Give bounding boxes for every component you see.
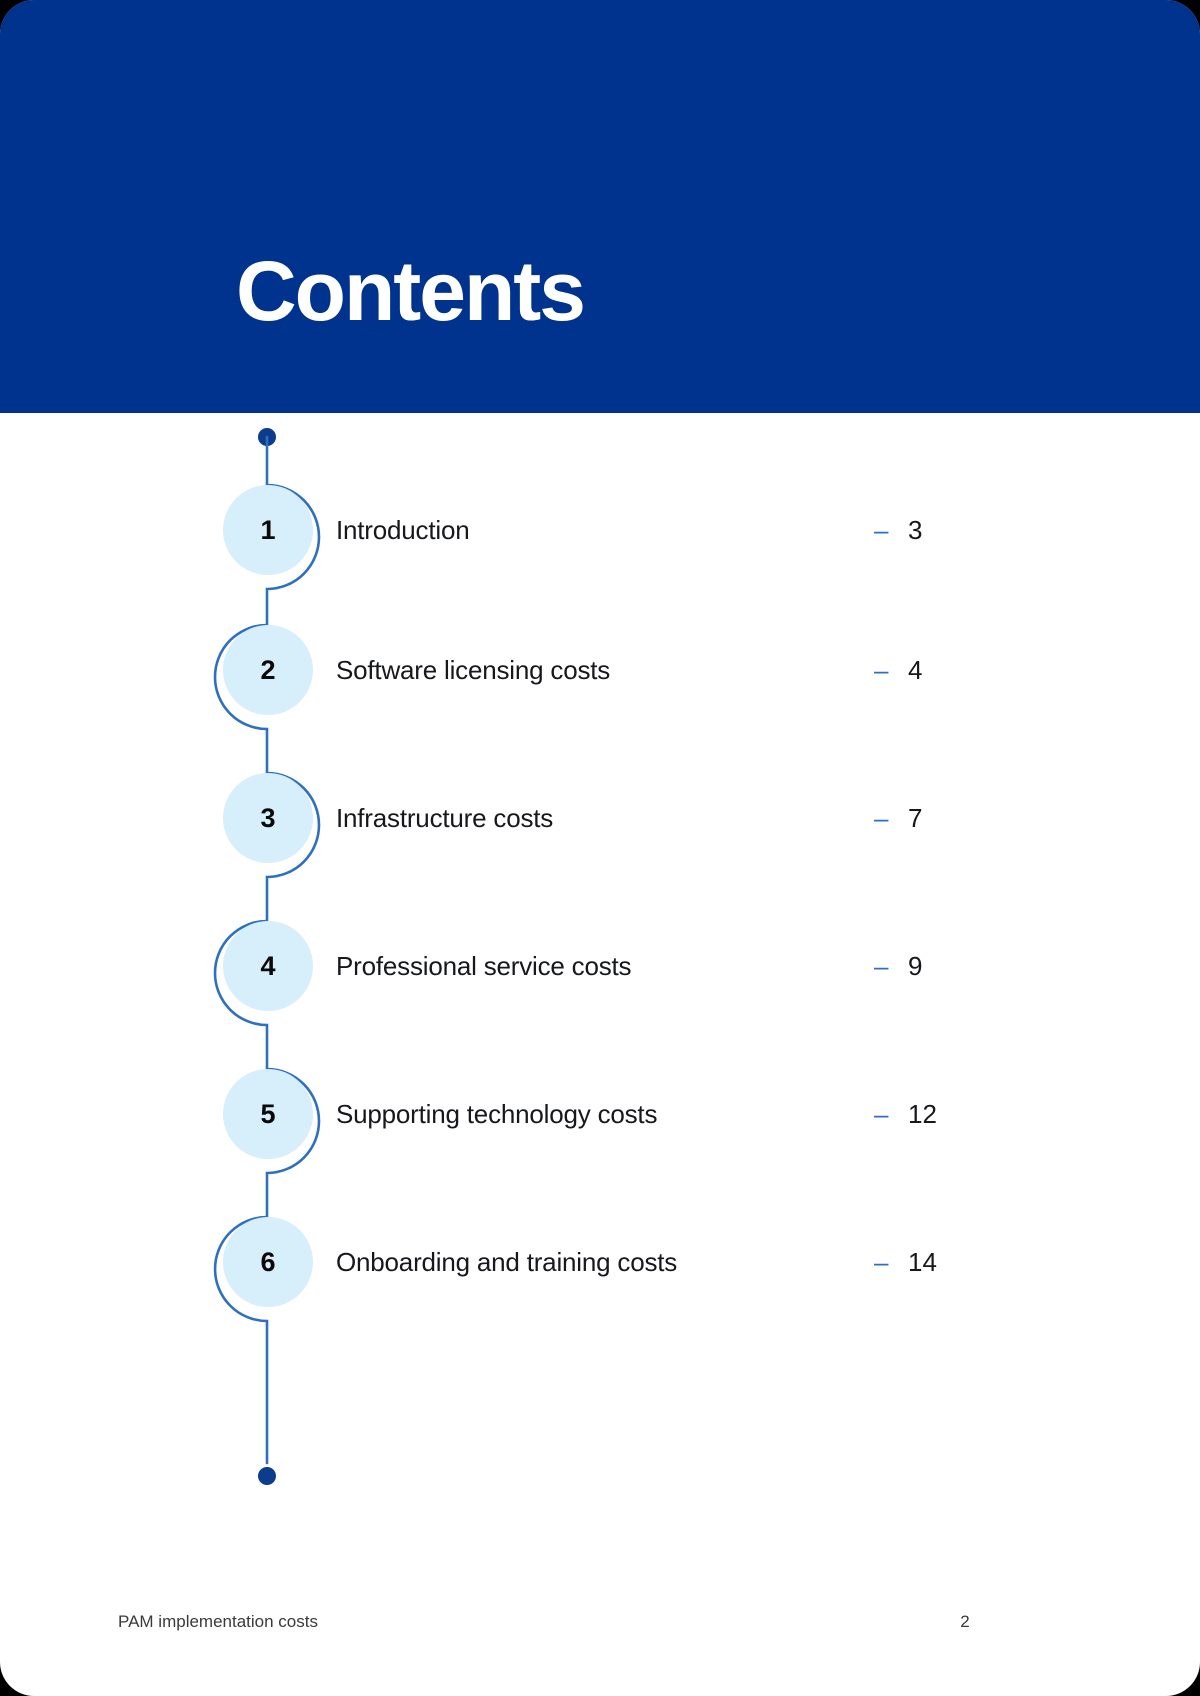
toc-item-number-badge: 5	[223, 1069, 313, 1159]
footer-page-number: 2	[950, 1612, 980, 1632]
document-page: Contents 1 Introduction – 3 2 Software l…	[0, 0, 1200, 1696]
toc-item-page-number[interactable]: 4	[908, 625, 968, 715]
toc-item-dash: –	[874, 921, 888, 1011]
toc-item-number-badge: 3	[223, 773, 313, 863]
toc-item-number-badge: 6	[223, 1217, 313, 1307]
toc-item-dash: –	[874, 1217, 888, 1307]
toc-item-label[interactable]: Introduction	[336, 485, 469, 575]
page-header-band: Contents	[0, 0, 1200, 413]
toc-item-page-number[interactable]: 9	[908, 921, 968, 1011]
toc-item-page-number[interactable]: 3	[908, 485, 968, 575]
page-title: Contents	[236, 243, 584, 339]
toc-item-label[interactable]: Onboarding and training costs	[336, 1217, 677, 1307]
toc-row[interactable]: 4 Professional service costs – 9	[0, 921, 1200, 1013]
toc-item-page-number[interactable]: 12	[908, 1069, 968, 1159]
toc-row[interactable]: 6 Onboarding and training costs – 14	[0, 1217, 1200, 1309]
toc-item-dash: –	[874, 485, 888, 575]
footer-document-title: PAM implementation costs	[118, 1612, 318, 1632]
toc-item-dash: –	[874, 773, 888, 863]
toc-item-number-badge: 1	[223, 485, 313, 575]
toc-row[interactable]: 2 Software licensing costs – 4	[0, 625, 1200, 717]
toc-row[interactable]: 5 Supporting technology costs – 12	[0, 1069, 1200, 1161]
toc-item-label[interactable]: Software licensing costs	[336, 625, 610, 715]
toc-row-list: 1 Introduction – 3 2 Software licensing …	[0, 413, 1200, 1523]
toc-item-dash: –	[874, 1069, 888, 1159]
toc-item-label[interactable]: Supporting technology costs	[336, 1069, 657, 1159]
toc-row[interactable]: 3 Infrastructure costs – 7	[0, 773, 1200, 865]
toc-row[interactable]: 1 Introduction – 3	[0, 485, 1200, 577]
toc-item-page-number[interactable]: 14	[908, 1217, 968, 1307]
page-footer: PAM implementation costs 2	[0, 1576, 1200, 1696]
toc-item-page-number[interactable]: 7	[908, 773, 968, 863]
toc-item-label[interactable]: Infrastructure costs	[336, 773, 553, 863]
toc-item-label[interactable]: Professional service costs	[336, 921, 631, 1011]
table-of-contents: 1 Introduction – 3 2 Software licensing …	[0, 413, 1200, 1696]
toc-item-number-badge: 2	[223, 625, 313, 715]
toc-item-number-badge: 4	[223, 921, 313, 1011]
toc-item-dash: –	[874, 625, 888, 715]
